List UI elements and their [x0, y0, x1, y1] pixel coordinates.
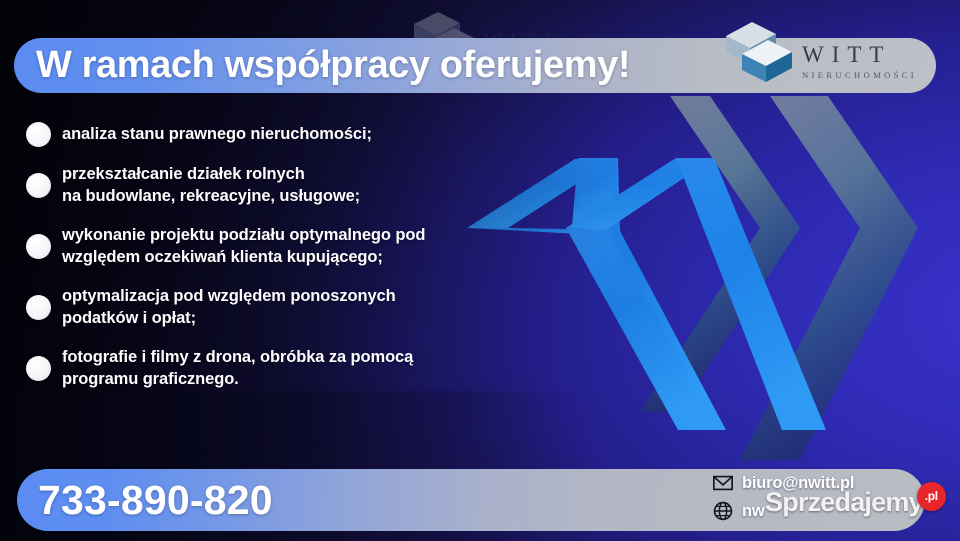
site-watermark: Sprzedajemy .pl: [765, 487, 946, 518]
bullet-dot-icon: [26, 356, 51, 381]
page-title: W ramach współpracy oferujemy!: [36, 38, 630, 93]
list-item-text: analiza stanu prawnego nieruchomości;: [62, 123, 372, 145]
list-item-line: optymalizacja pod względem ponoszonych: [62, 285, 396, 307]
envelope-icon: [712, 472, 734, 494]
bullet-dot-icon: [26, 122, 51, 147]
offer-list: analiza stanu prawnego nieruchomości; pr…: [26, 122, 616, 407]
chevron-grey-outer: [640, 96, 800, 412]
list-item-line: analiza stanu prawnego nieruchomości;: [62, 123, 372, 145]
brand-name: WITT: [802, 42, 891, 68]
bullet-dot-icon: [26, 234, 51, 259]
chevron-grey-inner: [740, 96, 918, 460]
bullet-dot-icon: [26, 295, 51, 320]
watermark-badge: .pl: [917, 482, 946, 511]
phone-number[interactable]: 733-890-820: [38, 469, 273, 531]
list-item: przekształcanie działek rolnych na budow…: [26, 163, 616, 208]
witt-cube-logo-icon: [718, 12, 800, 94]
brand-tagline: NIERUCHOMOŚCI: [802, 70, 917, 80]
list-item-text: optymalizacja pod względem ponoszonych p…: [62, 285, 396, 330]
brand-logo: WITT NIERUCHOMOŚCI: [718, 12, 940, 94]
list-item: optymalizacja pod względem ponoszonych p…: [26, 285, 616, 330]
list-item: fotografie i filmy z drona, obróbka za p…: [26, 346, 616, 391]
list-item-text: wykonanie projektu podziału optymalnego …: [62, 224, 425, 269]
watermark-text: Sprzedajemy: [765, 487, 923, 518]
list-item-text: przekształcanie działek rolnych na budow…: [62, 163, 360, 208]
list-item-text: fotografie i filmy z drona, obróbka za p…: [62, 346, 413, 391]
list-item-line: względem oczekiwań klienta kupującego;: [62, 246, 425, 268]
list-item-line: przekształcanie działek rolnych: [62, 163, 360, 185]
list-item-line: podatków i opłat;: [62, 307, 396, 329]
poster-canvas: WITT NIERUCHOMOŚCI W ramach współpracy o…: [0, 0, 960, 541]
list-item-line: wykonanie projektu podziału optymalnego …: [62, 224, 425, 246]
globe-icon: [712, 500, 734, 522]
list-item-line: fotografie i filmy z drona, obróbka za p…: [62, 346, 413, 368]
chevron-blue-inner-leg: [676, 158, 826, 430]
bullet-dot-icon: [26, 173, 51, 198]
website-value: nw: [742, 502, 765, 521]
list-item-line: programu graficznego.: [62, 368, 413, 390]
list-item: analiza stanu prawnego nieruchomości;: [26, 122, 616, 147]
list-item: wykonanie projektu podziału optymalnego …: [26, 224, 616, 269]
list-item-line: na budowlane, rekreacyjne, usługowe;: [62, 185, 360, 207]
